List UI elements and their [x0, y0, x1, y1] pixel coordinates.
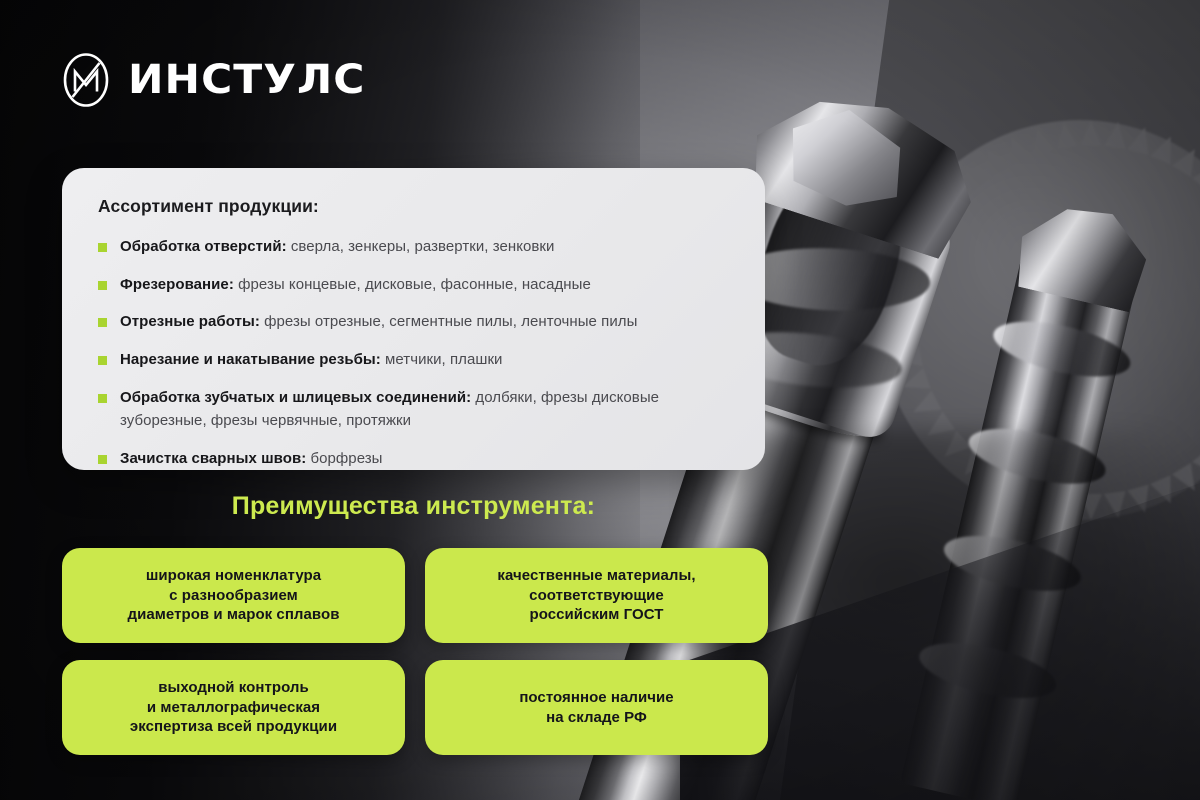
advantage-card-text: широкая номенклатура с разнообразием диа… — [128, 566, 340, 625]
advantages-grid: широкая номенклатура с разнообразием диа… — [62, 548, 768, 755]
bullet-square-icon — [98, 455, 107, 464]
instools-circle-slash-logo-icon — [58, 52, 114, 108]
assortment-item-detail: фрезы концевые, дисковые, фасонные, наса… — [234, 276, 591, 293]
promo-banner: ИНСТУЛС Ассортимент продукции: Обработка… — [0, 0, 1200, 800]
advantage-card[interactable]: постоянное наличие на складе РФ — [425, 660, 768, 755]
assortment-item-detail: борфрезы — [306, 450, 382, 467]
assortment-item: Фрезерование: фрезы концевые, дисковые, … — [98, 273, 731, 297]
assortment-item-lead: Отрезные работы: — [120, 313, 260, 330]
assortment-item: Обработка отверстий: сверла, зенкеры, ра… — [98, 235, 731, 259]
assortment-title: Ассортимент продукции: — [98, 196, 731, 217]
assortment-item: Нарезание и накатывание резьбы: метчики,… — [98, 348, 731, 372]
assortment-item-detail: фрезы отрезные, сегментные пилы, ленточн… — [260, 313, 638, 330]
brand-logo[interactable]: ИНСТУЛС — [58, 52, 352, 108]
assortment-card: Ассортимент продукции: Обработка отверст… — [62, 168, 765, 470]
bullet-square-icon — [98, 243, 107, 252]
advantage-card-text: выходной контроль и металлографическая э… — [130, 678, 337, 737]
bullet-square-icon — [98, 394, 107, 403]
advantage-card[interactable]: выходной контроль и металлографическая э… — [62, 660, 405, 755]
assortment-item: Отрезные работы: фрезы отрезные, сегмент… — [98, 310, 731, 334]
advantage-card[interactable]: широкая номенклатура с разнообразием диа… — [62, 548, 405, 643]
bullet-square-icon — [98, 281, 107, 290]
assortment-item-detail: сверла, зенкеры, развертки, зенковки — [287, 238, 555, 255]
assortment-item-lead: Нарезание и накатывание резьбы: — [120, 351, 381, 368]
assortment-item-lead: Обработка отверстий: — [120, 238, 287, 255]
assortment-item-detail: метчики, плашки — [381, 351, 503, 368]
bullet-square-icon — [98, 318, 107, 327]
advantage-card-text: качественные материалы, соответствующие … — [497, 566, 695, 625]
assortment-item-lead: Зачистка сварных швов: — [120, 450, 306, 467]
bullet-square-icon — [98, 356, 107, 365]
assortment-item-lead: Фрезерование: — [120, 276, 234, 293]
brand-wordmark: ИНСТУЛС — [128, 60, 365, 100]
assortment-list: Обработка отверстий: сверла, зенкеры, ра… — [98, 235, 731, 471]
assortment-item-lead: Обработка зубчатых и шлицевых соединений… — [120, 389, 471, 406]
advantage-card-text: постоянное наличие на складе РФ — [519, 688, 673, 728]
advantages-heading: Преимущества инструмента: — [62, 492, 765, 521]
assortment-item: Зачистка сварных швов: борфрезы — [98, 447, 731, 471]
advantage-card[interactable]: качественные материалы, соответствующие … — [425, 548, 768, 643]
assortment-item: Обработка зубчатых и шлицевых соединений… — [98, 386, 731, 433]
